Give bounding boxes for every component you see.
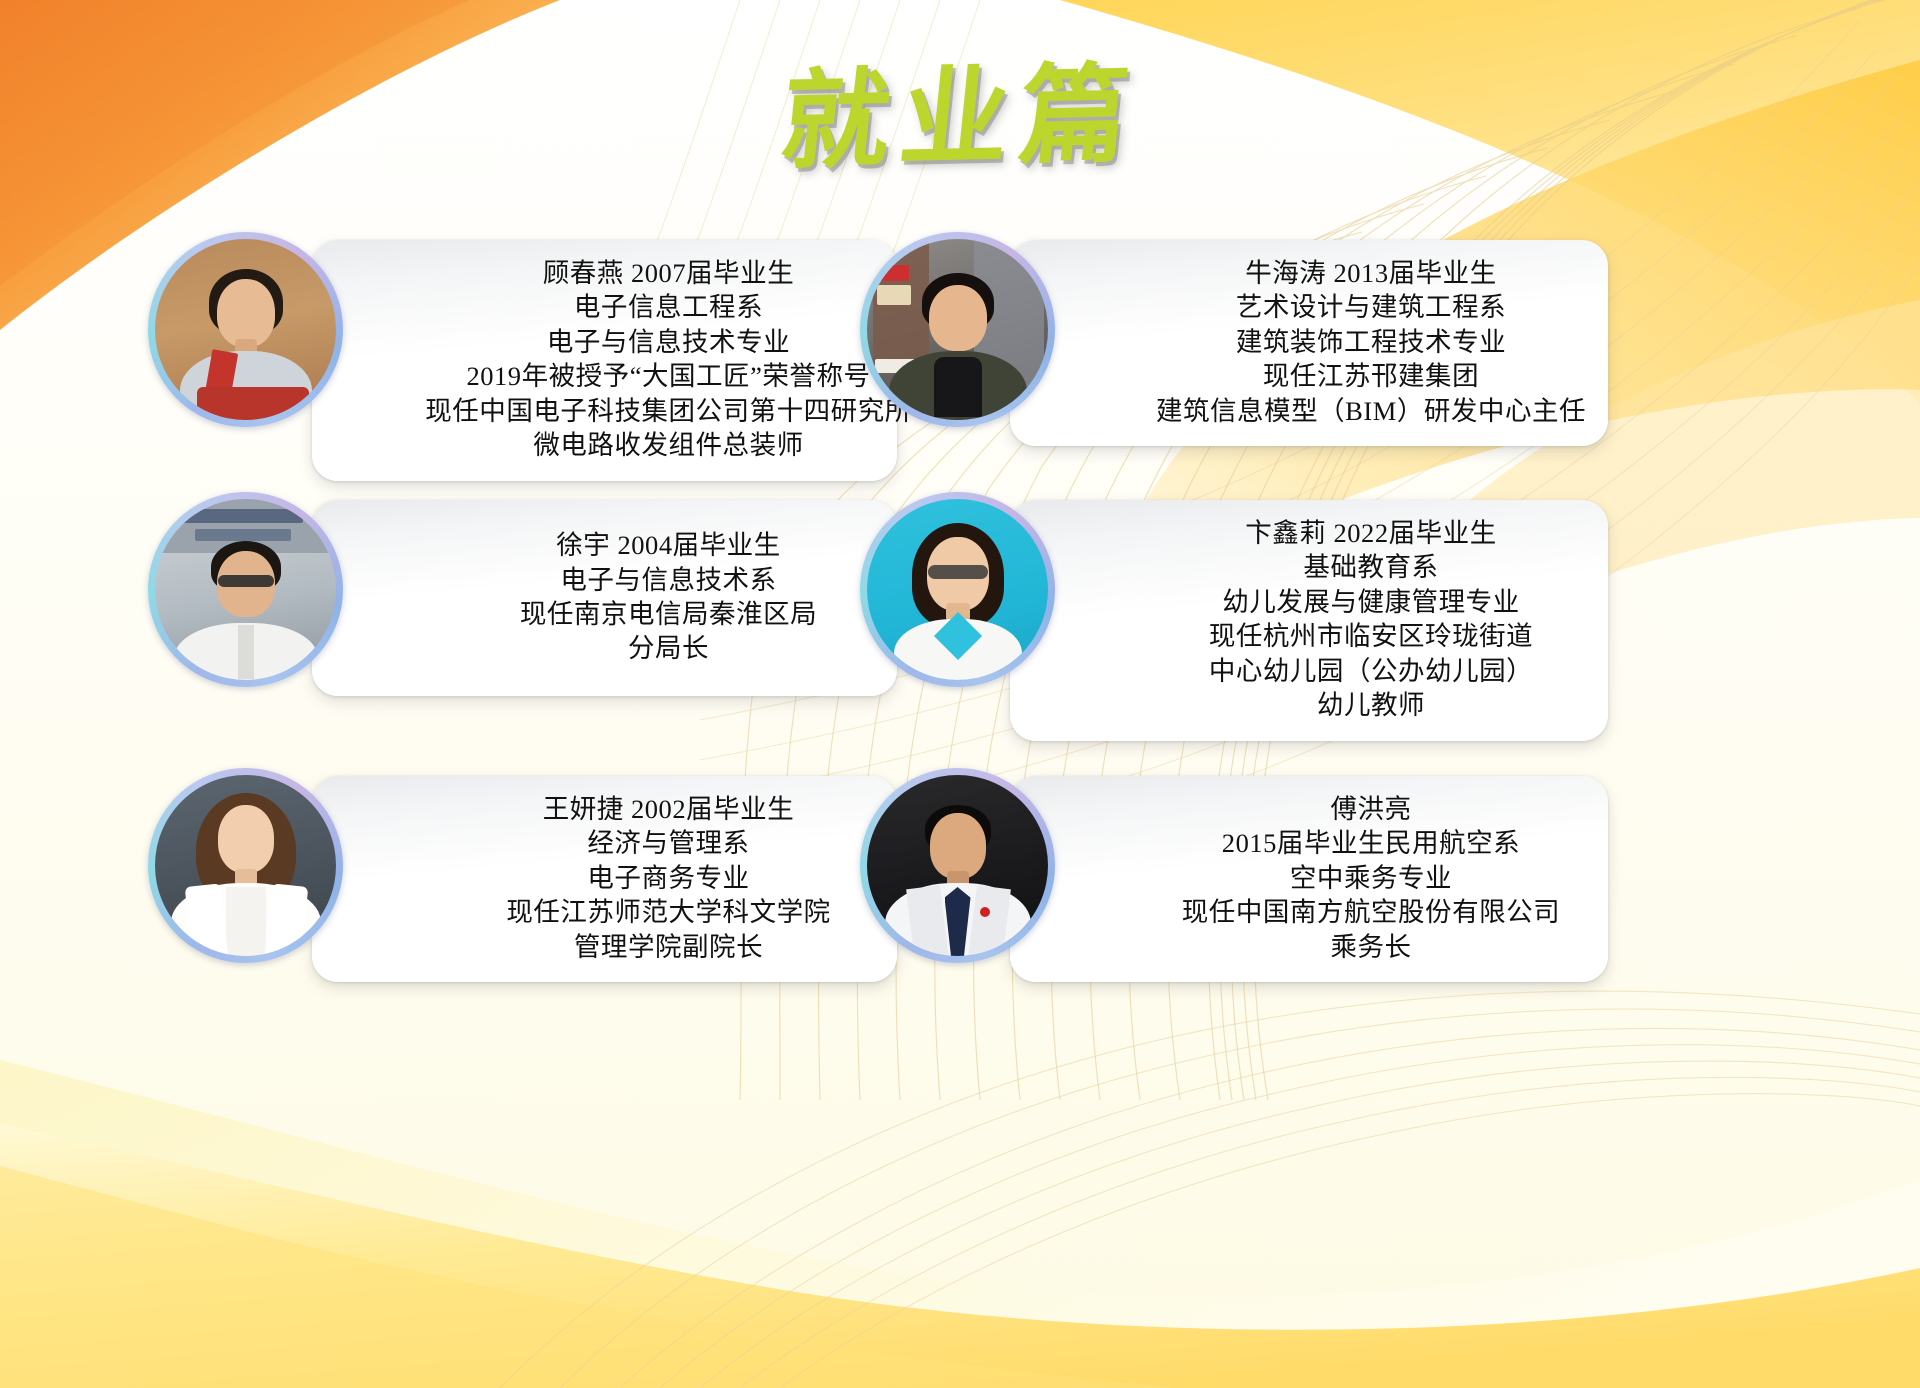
alumni-line: 电子与信息技术系 bbox=[560, 563, 776, 597]
portrait-niu-haitao bbox=[860, 232, 1055, 427]
page-title-container: 就业篇 bbox=[0, 62, 1920, 175]
alumni-line: 现任杭州市临安区玲珑街道 bbox=[1209, 619, 1533, 653]
alumni-info-panel: 傅洪亮 2015届毕业生民用航空系 空中乘务专业 现任中国南方航空股份有限公司 … bbox=[1010, 776, 1608, 982]
alumni-line: 电子商务专业 bbox=[587, 861, 749, 895]
alumni-line: 电子信息工程系 bbox=[574, 290, 763, 324]
alumni-line: 现任南京电信局秦淮区局 bbox=[520, 597, 817, 631]
alumni-line: 管理学院副院长 bbox=[574, 930, 763, 964]
alumni-line: 牛海涛 2013届毕业生 bbox=[1245, 256, 1497, 290]
alumni-line: 2019年被授予“大国工匠”荣誉称号 bbox=[466, 359, 870, 393]
alumni-card-grid: 顾春燕 2007届毕业生 电子信息工程系 电子与信息技术专业 2019年被授予“… bbox=[0, 0, 1920, 1388]
alumni-line: 建筑信息模型（BIM）研发中心主任 bbox=[1156, 394, 1586, 428]
alumni-line: 电子与信息技术专业 bbox=[547, 325, 790, 359]
alumni-line: 现任中国电子科技集团公司第十四研究所 bbox=[425, 394, 912, 428]
alumni-line: 中心幼儿园（公办幼儿园） bbox=[1209, 654, 1533, 688]
alumni-info-panel: 徐宇 2004届毕业生 电子与信息技术系 现任南京电信局秦淮区局 分局长 bbox=[312, 500, 897, 696]
alumni-line: 幼儿发展与健康管理专业 bbox=[1222, 585, 1519, 619]
alumni-line: 傅洪亮 bbox=[1330, 792, 1411, 826]
alumni-line: 徐宇 2004届毕业生 bbox=[556, 528, 780, 562]
portrait-xu-yu bbox=[148, 492, 343, 687]
alumni-info-panel: 卞鑫莉 2022届毕业生 基础教育系 幼儿发展与健康管理专业 现任杭州市临安区玲… bbox=[1010, 500, 1608, 741]
alumni-line: 现任江苏邗建集团 bbox=[1263, 359, 1479, 393]
alumni-line: 现任江苏师范大学科文学院 bbox=[506, 895, 830, 929]
alumni-card-fu-hongliang[interactable]: 傅洪亮 2015届毕业生民用航空系 空中乘务专业 现任中国南方航空股份有限公司 … bbox=[860, 768, 1460, 980]
alumni-card-niu-haitao[interactable]: 牛海涛 2013届毕业生 艺术设计与建筑工程系 建筑装饰工程技术专业 现任江苏邗… bbox=[860, 232, 1460, 444]
portrait-fu-hongliang bbox=[860, 768, 1055, 963]
portrait-gu-chunyan bbox=[148, 232, 343, 427]
portrait-wang-yanjie bbox=[148, 768, 343, 963]
alumni-card-bian-xinli[interactable]: 卞鑫莉 2022届毕业生 基础教育系 幼儿发展与健康管理专业 现任杭州市临安区玲… bbox=[860, 492, 1460, 722]
alumni-line: 空中乘务专业 bbox=[1290, 861, 1452, 895]
alumni-card-gu-chunyan[interactable]: 顾春燕 2007届毕业生 电子信息工程系 电子与信息技术专业 2019年被授予“… bbox=[148, 232, 748, 444]
alumni-line: 经济与管理系 bbox=[587, 826, 749, 860]
alumni-line: 顾春燕 2007届毕业生 bbox=[543, 256, 795, 290]
alumni-line: 乘务长 bbox=[1330, 930, 1411, 964]
alumni-info-panel: 顾春燕 2007届毕业生 电子信息工程系 电子与信息技术专业 2019年被授予“… bbox=[312, 240, 897, 481]
alumni-line: 微电路收发组件总装师 bbox=[533, 428, 803, 462]
alumni-info-panel: 王妍捷 2002届毕业生 经济与管理系 电子商务专业 现任江苏师范大学科文学院 … bbox=[312, 776, 897, 982]
page-title: 就业篇 bbox=[762, 58, 1159, 179]
alumni-line: 建筑装饰工程技术专业 bbox=[1236, 325, 1506, 359]
alumni-card-wang-yanjie[interactable]: 王妍捷 2002届毕业生 经济与管理系 电子商务专业 现任江苏师范大学科文学院 … bbox=[148, 768, 748, 980]
alumni-line: 现任中国南方航空股份有限公司 bbox=[1182, 895, 1560, 929]
alumni-info-panel: 牛海涛 2013届毕业生 艺术设计与建筑工程系 建筑装饰工程技术专业 现任江苏邗… bbox=[1010, 240, 1608, 446]
alumni-line: 2015届毕业生民用航空系 bbox=[1222, 826, 1520, 860]
alumni-card-xu-yu[interactable]: 徐宇 2004届毕业生 电子与信息技术系 现任南京电信局秦淮区局 分局长 bbox=[148, 492, 748, 704]
poster-canvas: 就业篇 顾春燕 2007届毕业生 电子信息工程系 电子与信息技术专业 2019年… bbox=[0, 0, 1920, 1388]
portrait-bian-xinli bbox=[860, 492, 1055, 687]
alumni-line: 幼儿教师 bbox=[1317, 688, 1425, 722]
alumni-line: 王妍捷 2002届毕业生 bbox=[543, 792, 795, 826]
alumni-line: 基础教育系 bbox=[1303, 550, 1438, 584]
alumni-line: 分局长 bbox=[628, 631, 709, 665]
alumni-line: 艺术设计与建筑工程系 bbox=[1236, 290, 1506, 324]
alumni-line: 卞鑫莉 2022届毕业生 bbox=[1245, 516, 1497, 550]
